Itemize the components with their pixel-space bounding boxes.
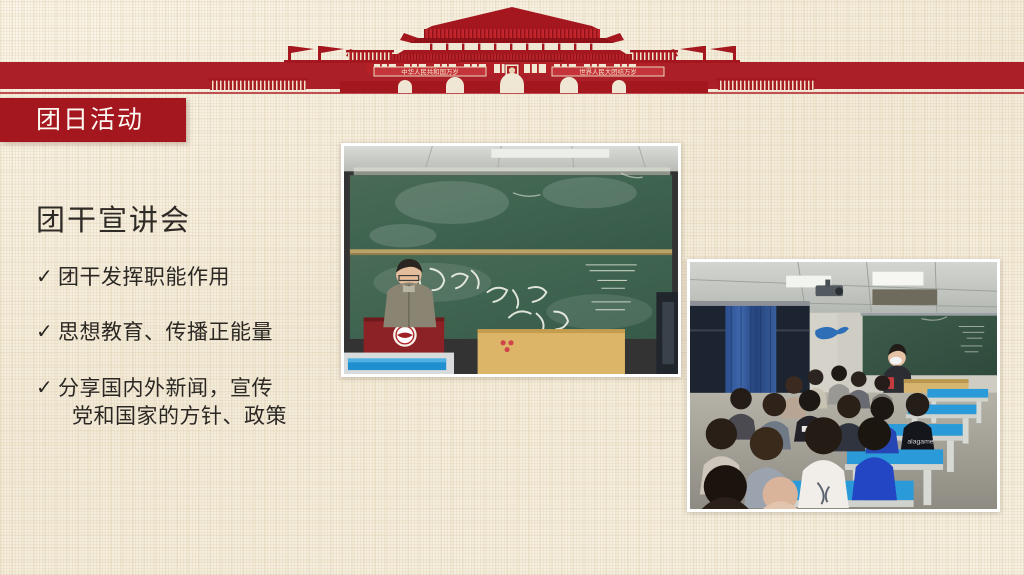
content-column: 团干宣讲会 ✓ 团干发挥职能作用 ✓ 思想教育、传播正能量 ✓ 分享国内外新闻，… <box>36 206 336 458</box>
photo-audience: alagame <box>687 259 1000 512</box>
list-item: ✓ 思想教育、传播正能量 <box>36 319 336 347</box>
list-item-line1: 分享国内外新闻，宣传 <box>58 377 273 400</box>
list-item: ✓ 分享国内外新闻，宣传 党和国家的方针、政策 <box>36 375 336 432</box>
right-slogan-text: 世界人民大团结万岁 <box>579 67 637 76</box>
list-item-line2: 党和国家的方针、政策 <box>58 403 287 431</box>
photo-lecture <box>341 143 681 377</box>
check-icon: ✓ <box>36 319 58 346</box>
presentation-slide: 中华人民共和国万岁 世界人民大团结万岁 <box>0 0 1024 575</box>
tiananmen-gate-icon: 中华人民共和国万岁 世界人民大团结万岁 <box>0 0 1024 100</box>
svg-text:alagame: alagame <box>907 439 933 446</box>
list-item-label: 团干发挥职能作用 <box>58 264 230 292</box>
left-slogan-text: 中华人民共和国万岁 <box>401 67 459 76</box>
check-icon: ✓ <box>36 264 58 291</box>
list-item-label: 思想教育、传播正能量 <box>58 319 273 347</box>
slide-title-tab: 团日活动 <box>0 98 186 142</box>
slide-title-text: 团日活动 <box>0 108 144 133</box>
check-icon: ✓ <box>36 375 58 402</box>
list-item: ✓ 团干发挥职能作用 <box>36 264 336 292</box>
section-heading: 团干宣讲会 <box>36 206 336 238</box>
list-item-label: 分享国内外新闻，宣传 党和国家的方针、政策 <box>58 375 287 432</box>
header-decoration: 中华人民共和国万岁 世界人民大团结万岁 <box>0 0 1024 100</box>
